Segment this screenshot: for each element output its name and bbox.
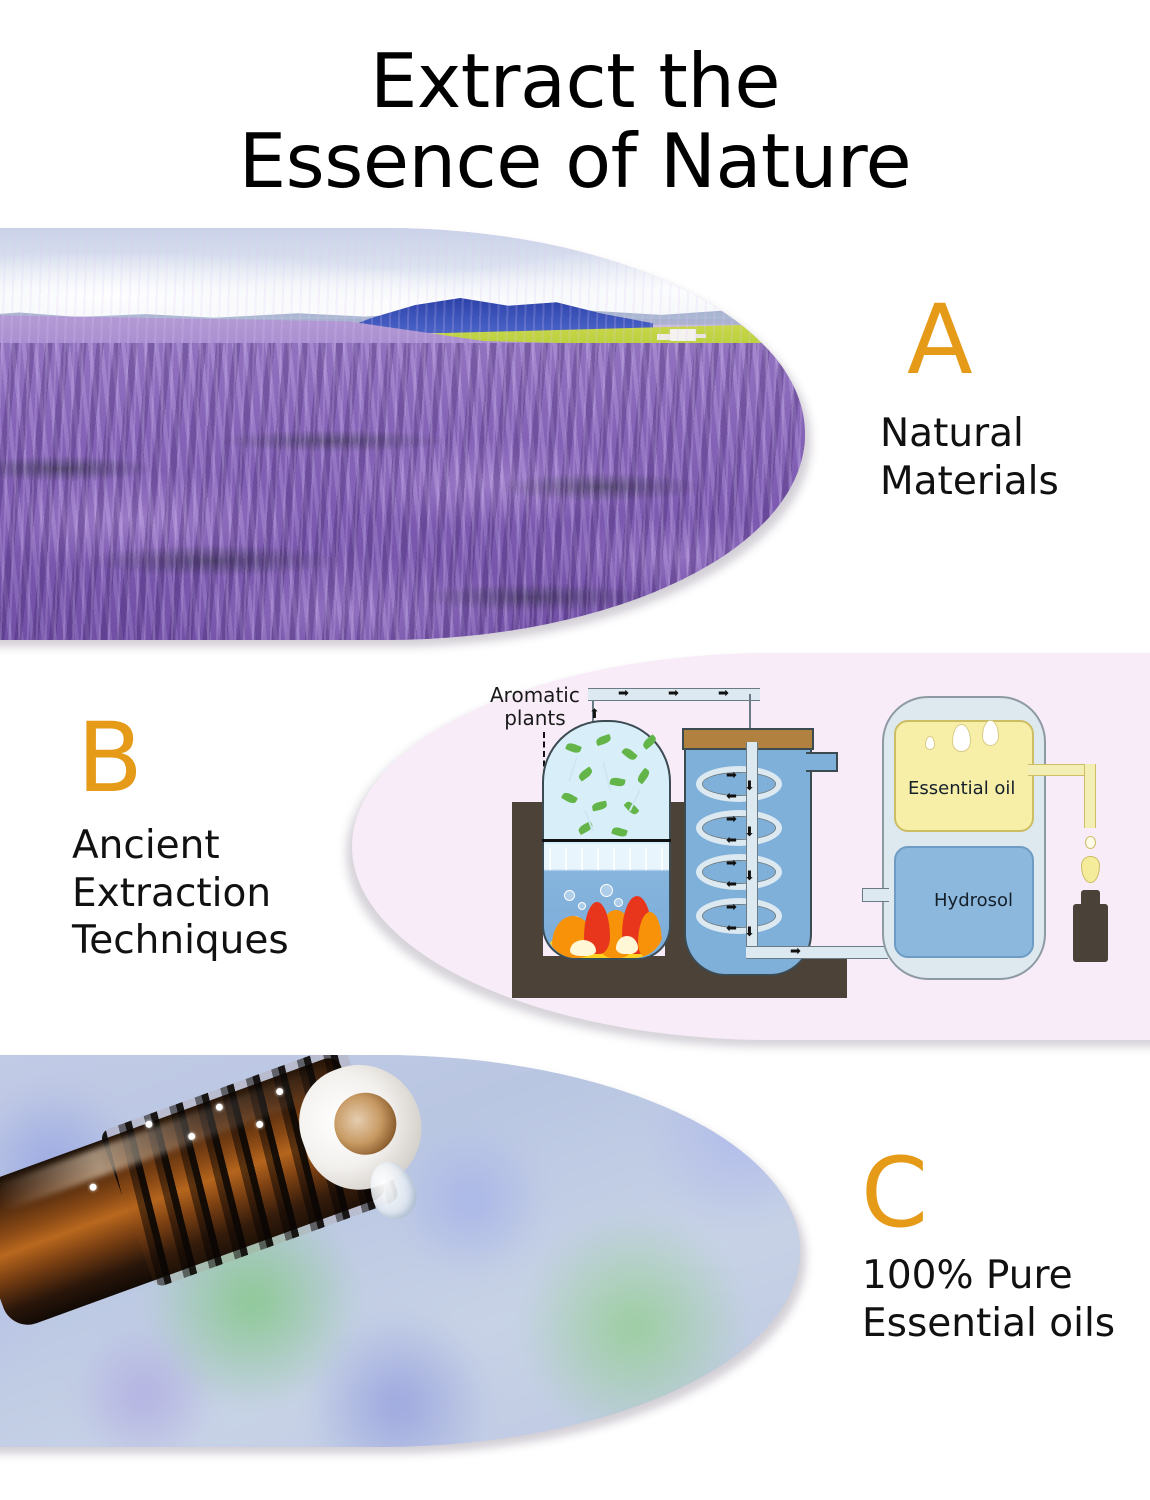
arrow-right-3: ➡ [718, 687, 729, 700]
aromatic-plants-label: Aromatic plants [490, 684, 580, 730]
flame-orange [638, 912, 662, 958]
hydrosol-inlet-pipe [862, 888, 889, 902]
lavender-flower-tips [0, 228, 805, 640]
coil-arrow-left: ⬅ [726, 834, 737, 847]
oil-droplet-small [925, 736, 935, 750]
flame-core-white [570, 940, 596, 956]
coil-arrow-left: ⬅ [726, 878, 737, 891]
condenser-coil-loop [696, 898, 782, 934]
section-caption-c: 100% Pure Essential oils [862, 1252, 1115, 1347]
coil-arrow-down: ⬇ [744, 870, 755, 883]
condenser-overflow-spout [806, 752, 838, 772]
steam-distillation-diagram: Aromatic plants ⬆ ➡ ➡ ➡ ⬇ [470, 678, 1130, 1028]
essential-oil-label: Essential oil [908, 778, 1015, 799]
coil-arrow-left: ⬅ [726, 922, 737, 935]
lavender-photo-layers [0, 228, 805, 640]
title-line-2: Essence of Nature [0, 122, 1150, 202]
hydrosol-label: Hydrosol [934, 890, 1013, 911]
arrow-right-1: ➡ [618, 687, 629, 700]
arrow-up-still: ⬆ [589, 708, 600, 721]
coil-arrow-right: ➡ [726, 769, 737, 782]
still-chamber-divider [542, 839, 671, 842]
section-letter-b: B [77, 710, 143, 806]
oil-droplet-large [952, 724, 971, 752]
coil-arrow-down: ⬇ [744, 780, 755, 793]
coil-arrow-right: ➡ [726, 813, 737, 826]
fire-flames [546, 896, 664, 958]
vial-body [1073, 904, 1108, 962]
coil-descending-pipe [746, 742, 758, 954]
oil-takeoff-pipe-vertical [1084, 764, 1096, 828]
flame-core-white [616, 936, 638, 954]
essential-oil-bottle-photo [0, 1055, 800, 1447]
coil-arrow-left: ⬅ [726, 790, 737, 803]
oil-drip-large [1081, 856, 1100, 883]
arrow-right-2: ➡ [668, 687, 679, 700]
condensate-outlet-pipe [746, 946, 888, 959]
oil-drip-small [1085, 836, 1096, 849]
oil-droplet-medium [982, 720, 999, 746]
section-letter-a: A [907, 292, 973, 388]
coil-arrow-right: ➡ [726, 901, 737, 914]
outlet-arrow-right: ➡ [790, 945, 801, 958]
furnace-wall-left [512, 802, 543, 978]
title-line-1: Extract the [0, 42, 1150, 122]
condenser-coil-loop [696, 810, 782, 846]
condenser-coil-loop [696, 854, 782, 890]
section-caption-b: Ancient Extraction Techniques [72, 822, 289, 965]
water-surface-waves [544, 848, 669, 870]
section-caption-a: Natural Materials [880, 410, 1059, 505]
condenser-coil-loop [696, 766, 782, 802]
coil-arrow-down: ⬇ [744, 926, 755, 939]
page-title: Extract the Essence of Nature [0, 42, 1150, 201]
coil-arrow-down: ⬇ [744, 826, 755, 839]
coil-arrow-right: ➡ [726, 857, 737, 870]
lavender-field-photo [0, 228, 805, 640]
section-letter-c: C [861, 1145, 928, 1241]
